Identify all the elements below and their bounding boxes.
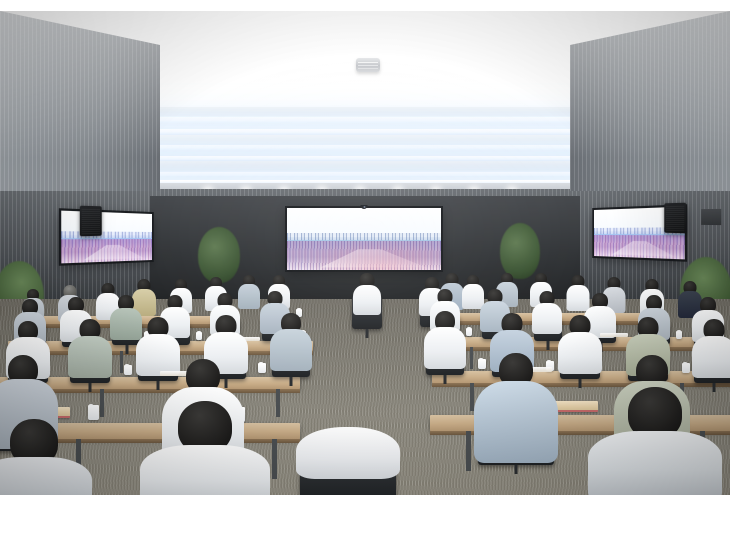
desk-leg	[100, 389, 104, 417]
wall-speaker-left	[80, 206, 102, 237]
attendee	[558, 315, 602, 373]
ceiling-projector	[356, 58, 380, 72]
plant-icon	[500, 223, 540, 279]
attendee-torso	[692, 336, 730, 378]
desk-leg	[470, 347, 473, 369]
attendee	[352, 273, 382, 313]
attendee-torso	[270, 329, 312, 371]
paper-cup	[124, 365, 132, 375]
attendee	[474, 353, 558, 459]
desk-leg	[120, 351, 123, 373]
attendee	[588, 387, 722, 495]
attendee-torso	[474, 381, 558, 463]
attendee	[692, 319, 730, 377]
paper-cup	[258, 363, 266, 373]
attendee-torso	[0, 457, 92, 495]
attendee-torso	[296, 427, 400, 479]
paper-cup	[466, 328, 472, 336]
main-led-screen[interactable]	[287, 208, 441, 270]
attendee	[294, 421, 402, 495]
plant-icon	[198, 227, 240, 283]
desk-leg	[276, 389, 280, 417]
paper-cup	[196, 332, 202, 340]
paper-cup	[88, 405, 99, 420]
main-screen-cityscape-image	[287, 208, 441, 270]
desk-leg	[272, 439, 277, 479]
attendee-torso	[353, 285, 381, 315]
paper-cup	[676, 331, 682, 339]
left-led-screen[interactable]	[61, 211, 152, 264]
documents	[600, 333, 628, 337]
attendee-torso	[238, 284, 260, 309]
wall-sign-right	[701, 209, 721, 225]
screen-glow	[287, 233, 441, 270]
attendee-torso	[424, 327, 466, 369]
attendee-torso	[558, 332, 602, 374]
attendee	[68, 319, 112, 377]
attendee-torso	[68, 336, 112, 378]
attendee	[270, 313, 312, 371]
conference-room-photograph	[0, 11, 730, 495]
attendee	[140, 401, 270, 495]
wall-speaker-right	[664, 203, 686, 234]
attendee	[424, 311, 466, 369]
attendee	[0, 419, 92, 495]
attendee-torso	[140, 445, 270, 495]
attendee	[238, 275, 260, 307]
left-screen-cityscape-image	[61, 211, 152, 264]
attendee-torso	[588, 431, 722, 495]
desk-leg	[466, 431, 471, 471]
screenshot-root	[0, 0, 730, 548]
